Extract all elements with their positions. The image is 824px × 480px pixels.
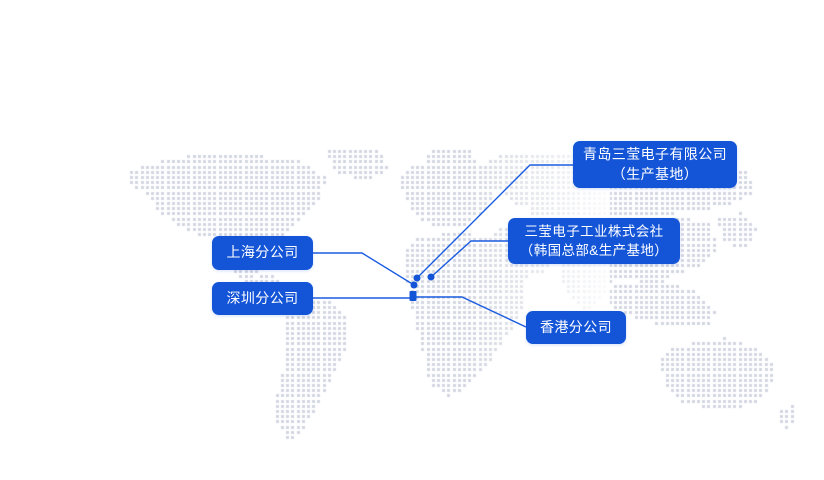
- map-marker-qingdao[interactable]: [414, 275, 421, 282]
- callout-shanghai-label: 上海分公司: [227, 243, 299, 263]
- map-marker-korea[interactable]: [428, 274, 435, 281]
- callout-korea[interactable]: 三莹电子工业株式会社 （韩国总部&生产基地）: [508, 218, 680, 264]
- callout-qingdao-line2: （生产基地）: [612, 165, 698, 185]
- world-map-infographic: 青岛三莹电子有限公司 （生产基地） 三莹电子工业株式会社 （韩国总部&生产基地）…: [0, 0, 824, 480]
- callout-shanghai[interactable]: 上海分公司: [212, 236, 313, 270]
- callout-hongkong[interactable]: 香港分公司: [526, 311, 626, 344]
- callout-qingdao[interactable]: 青岛三莹电子有限公司 （生产基地）: [573, 141, 737, 188]
- callout-shenzhen-label: 深圳分公司: [227, 289, 299, 309]
- dotted-world-map: [0, 0, 824, 480]
- callout-qingdao-line1: 青岛三莹电子有限公司: [583, 145, 727, 165]
- callout-hongkong-label: 香港分公司: [540, 318, 612, 338]
- world-map-canvas: [0, 0, 824, 480]
- map-marker-shenzhen[interactable]: [410, 291, 417, 301]
- map-marker-shanghai[interactable]: [411, 282, 418, 289]
- callout-shenzhen[interactable]: 深圳分公司: [212, 282, 313, 315]
- callout-korea-line2: （韩国总部&生产基地）: [520, 241, 668, 260]
- callout-korea-line1: 三莹电子工业株式会社: [525, 222, 664, 241]
